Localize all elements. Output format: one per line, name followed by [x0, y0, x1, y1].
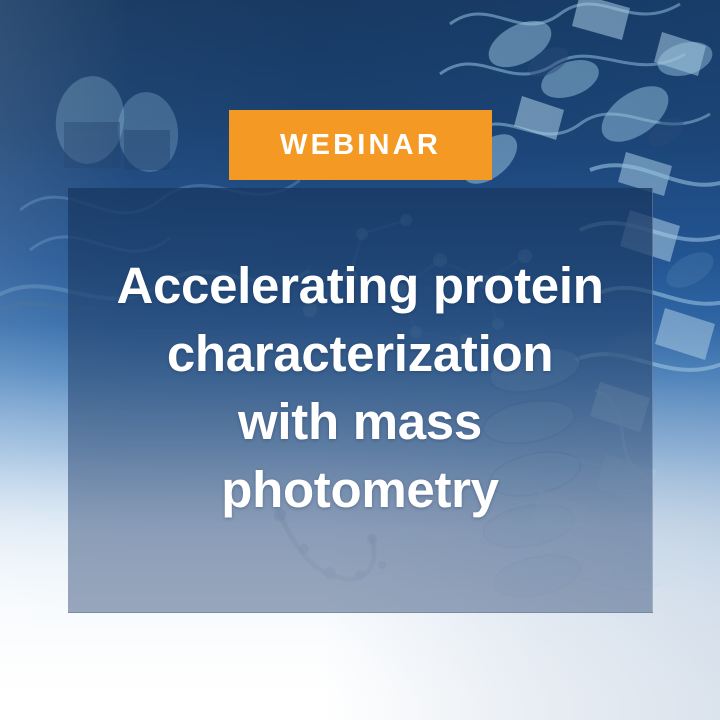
webinar-badge: WEBINAR — [229, 110, 492, 180]
headline: Accelerating protein characterization wi… — [68, 252, 652, 524]
headline-line-1: Accelerating protein — [68, 252, 652, 320]
headline-line-2: characterization — [68, 320, 652, 388]
headline-line-4: photometry — [68, 456, 652, 524]
webinar-promo-card: WEBINAR Accelerating protein characteriz… — [0, 0, 720, 720]
webinar-badge-label: WEBINAR — [280, 131, 441, 160]
headline-line-3: with mass — [68, 388, 652, 456]
